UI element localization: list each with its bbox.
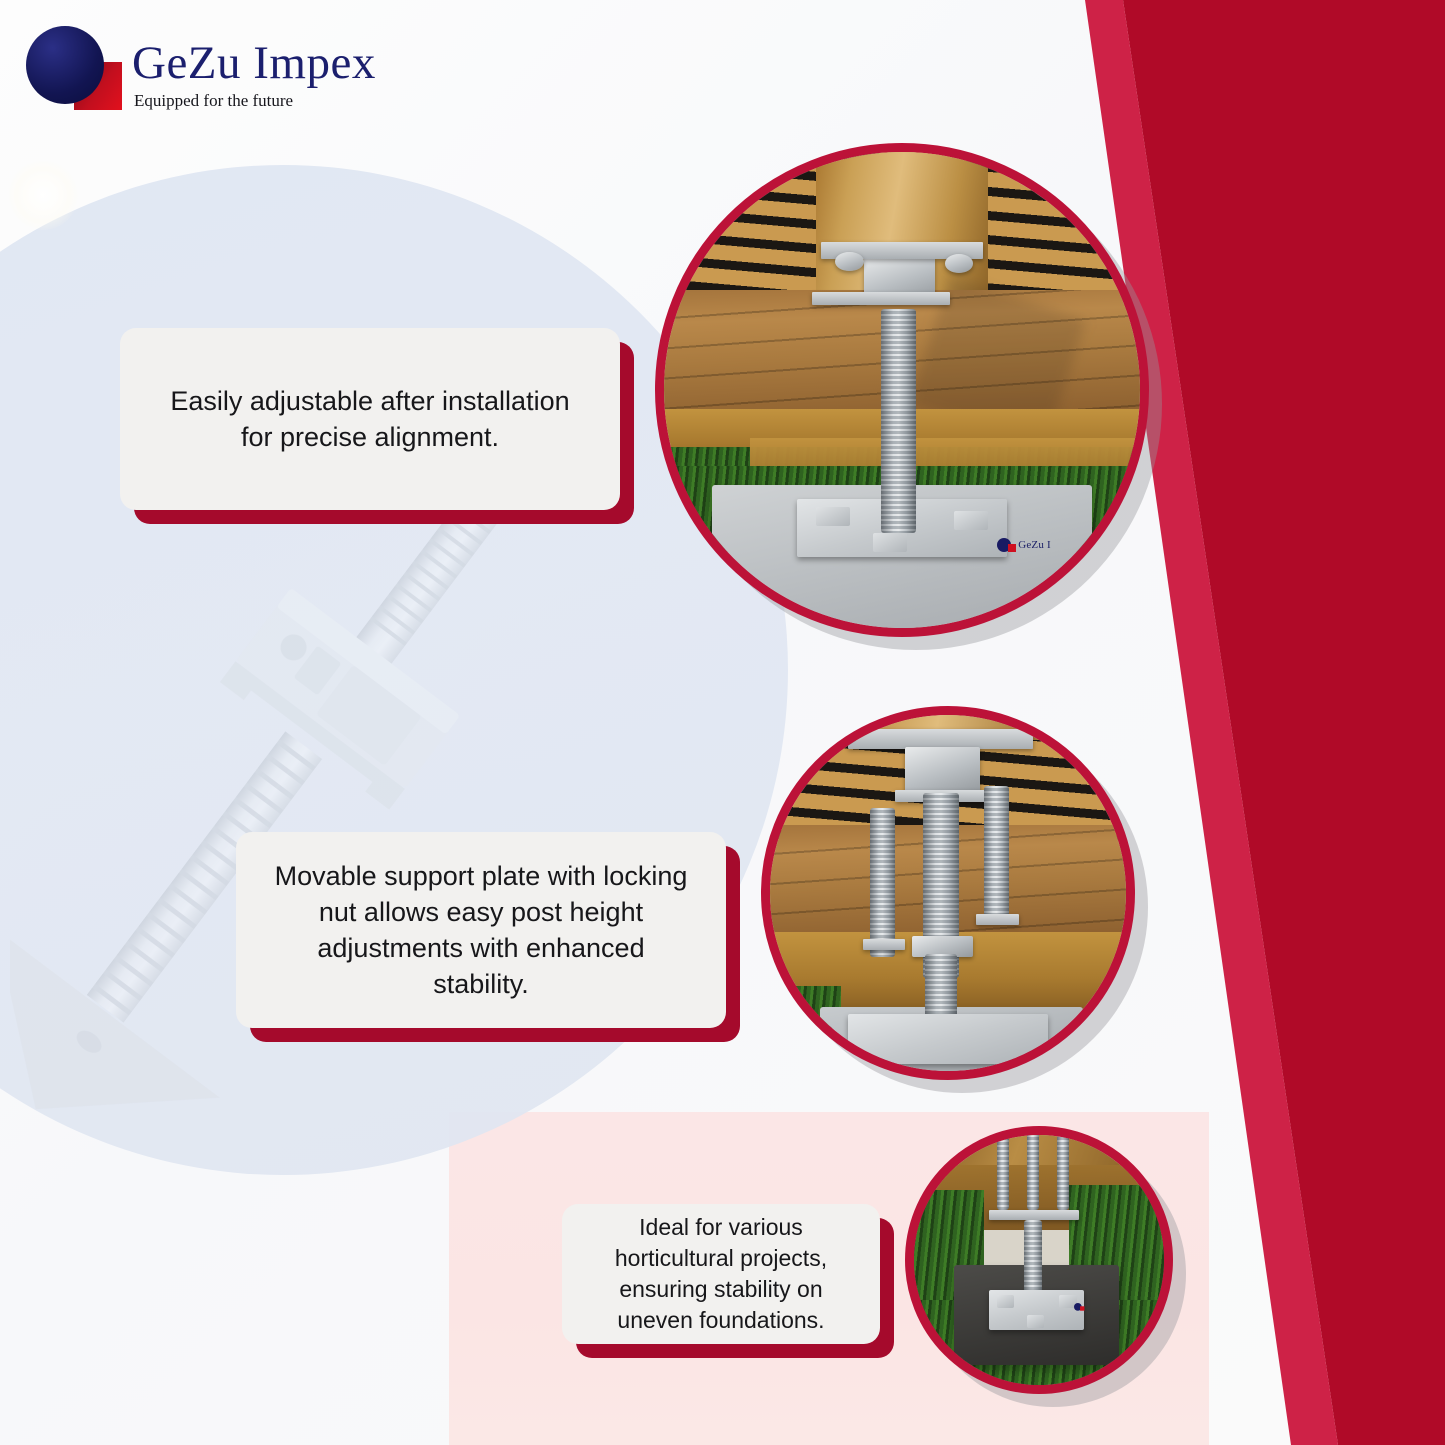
callout-card-body: Easily adjustable after installation for…	[120, 328, 620, 510]
callout-card-horticultural: Ideal for various horticultural projects…	[562, 1204, 880, 1344]
callout-text: Movable support plate with locking nut a…	[270, 858, 692, 1003]
infographic-canvas: GeZu Impex Equipped for the future	[0, 0, 1445, 1445]
callout-text: Easily adjustable after installation for…	[154, 383, 586, 455]
brand-logo-text: GeZu Impex Equipped for the future	[132, 24, 376, 111]
callout-text: Ideal for various horticultural projects…	[596, 1212, 846, 1335]
brand-logo: GeZu Impex Equipped for the future	[24, 24, 376, 120]
brand-name: GeZu Impex	[132, 40, 376, 87]
callout-card-adjustable: Easily adjustable after installation for…	[120, 328, 620, 510]
callout-card-support-plate: Movable support plate with locking nut a…	[236, 832, 726, 1028]
callout-card-body: Ideal for various horticultural projects…	[562, 1204, 880, 1344]
callout-card-body: Movable support plate with locking nut a…	[236, 832, 726, 1028]
photo-watermark: GeZu I	[997, 538, 1051, 552]
product-photo-anchor-on-foundation	[905, 1126, 1173, 1394]
photo-watermark	[1074, 1303, 1084, 1311]
product-photo-deck-post-anchor: GeZu I	[655, 143, 1149, 637]
brand-tagline: Equipped for the future	[134, 91, 376, 111]
gezu-logo-circle-square-icon	[24, 24, 120, 120]
product-photo-threaded-rod-closeup	[761, 706, 1135, 1080]
background-light-flare-icon	[8, 160, 78, 230]
ghost-product-image	[10, 425, 570, 1185]
